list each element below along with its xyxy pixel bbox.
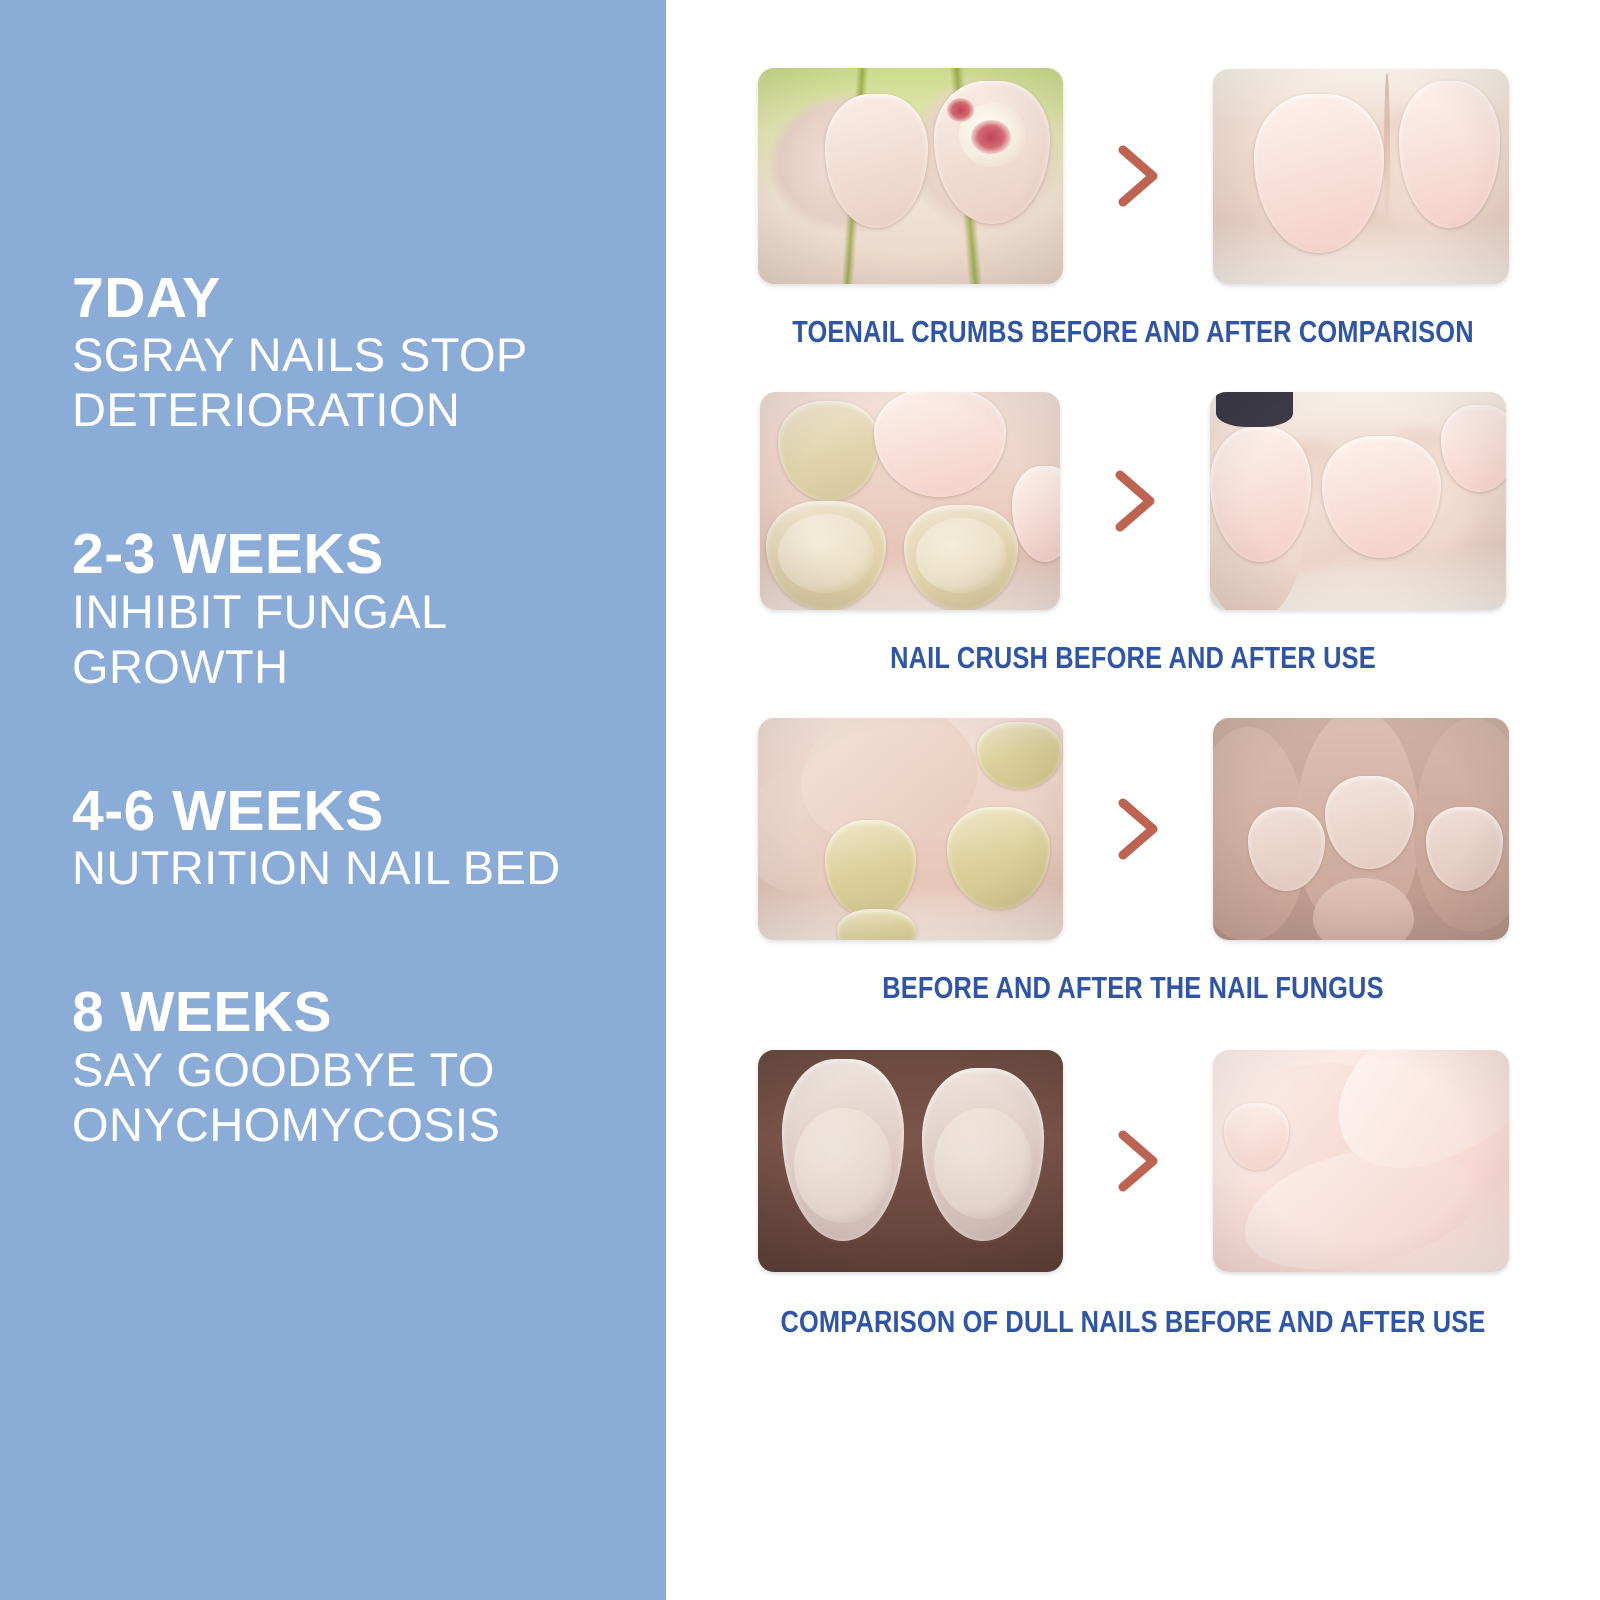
result-caption-1: TOENAIL CRUMBS BEFORE AND AFTER COMPARIS… xyxy=(750,314,1516,350)
timeline-stage-3: 4-6 WEEKS NUTRITION NAIL BED xyxy=(72,781,666,896)
result-caption-3: BEFORE AND AFTER THE NAIL FUNGUS xyxy=(750,970,1516,1006)
stage-duration-2: 2-3 WEEKS xyxy=(72,524,666,584)
chevron-right-icon xyxy=(1111,793,1165,865)
stage-duration-4: 8 WEEKS xyxy=(72,982,666,1042)
before-photo-1 xyxy=(758,68,1063,284)
arrow-cell-2 xyxy=(1060,465,1210,537)
before-after-pair-4 xyxy=(666,1050,1600,1272)
timeline-sidebar: 7DAY SGRAY NAILS STOP DETERIORATION 2-3 … xyxy=(0,0,666,1600)
result-caption-4: COMPARISON OF DULL NAILS BEFORE AND AFTE… xyxy=(750,1304,1516,1340)
stage-description-3: NUTRITION NAIL BED xyxy=(72,841,632,896)
before-after-results-panel: TOENAIL CRUMBS BEFORE AND AFTER COMPARIS… xyxy=(666,0,1600,1600)
before-photo-3 xyxy=(758,718,1063,940)
arrow-cell-4 xyxy=(1063,1125,1213,1197)
before-photo-2 xyxy=(760,392,1060,610)
result-row-3: BEFORE AND AFTER THE NAIL FUNGUS xyxy=(666,676,1600,1006)
chevron-right-icon xyxy=(1111,140,1165,212)
stage-description-2: INHIBIT FUNGAL GROWTH xyxy=(72,585,632,695)
stage-duration-1: 7DAY xyxy=(72,268,666,328)
after-photo-4 xyxy=(1213,1050,1509,1272)
result-row-1: TOENAIL CRUMBS BEFORE AND AFTER COMPARIS… xyxy=(666,0,1600,350)
result-row-2: NAIL CRUSH BEFORE AND AFTER USE xyxy=(666,350,1600,676)
timeline-stage-2: 2-3 WEEKS INHIBIT FUNGAL GROWTH xyxy=(72,524,666,694)
infographic-page: 7DAY SGRAY NAILS STOP DETERIORATION 2-3 … xyxy=(0,0,1600,1600)
stage-description-1: SGRAY NAILS STOP DETERIORATION xyxy=(72,328,632,438)
result-caption-2: NAIL CRUSH BEFORE AND AFTER USE xyxy=(750,640,1516,676)
arrow-cell-3 xyxy=(1063,793,1213,865)
before-photo-4 xyxy=(758,1050,1063,1272)
before-after-pair-1 xyxy=(666,68,1600,284)
before-after-pair-3 xyxy=(666,718,1600,940)
before-after-pair-2 xyxy=(666,392,1600,610)
timeline-stage-1: 7DAY SGRAY NAILS STOP DETERIORATION xyxy=(72,268,666,438)
after-photo-2 xyxy=(1210,392,1506,610)
result-row-4: COMPARISON OF DULL NAILS BEFORE AND AFTE… xyxy=(666,1006,1600,1340)
after-photo-1 xyxy=(1213,69,1509,284)
stage-duration-3: 4-6 WEEKS xyxy=(72,781,666,841)
stage-description-4: SAY GOODBYE TO ONYCHOMYCOSIS xyxy=(72,1043,632,1153)
after-photo-3 xyxy=(1213,718,1509,940)
arrow-cell-1 xyxy=(1063,140,1213,212)
chevron-right-icon xyxy=(1108,465,1162,537)
timeline-stage-4: 8 WEEKS SAY GOODBYE TO ONYCHOMYCOSIS xyxy=(72,982,666,1152)
chevron-right-icon xyxy=(1111,1125,1165,1197)
